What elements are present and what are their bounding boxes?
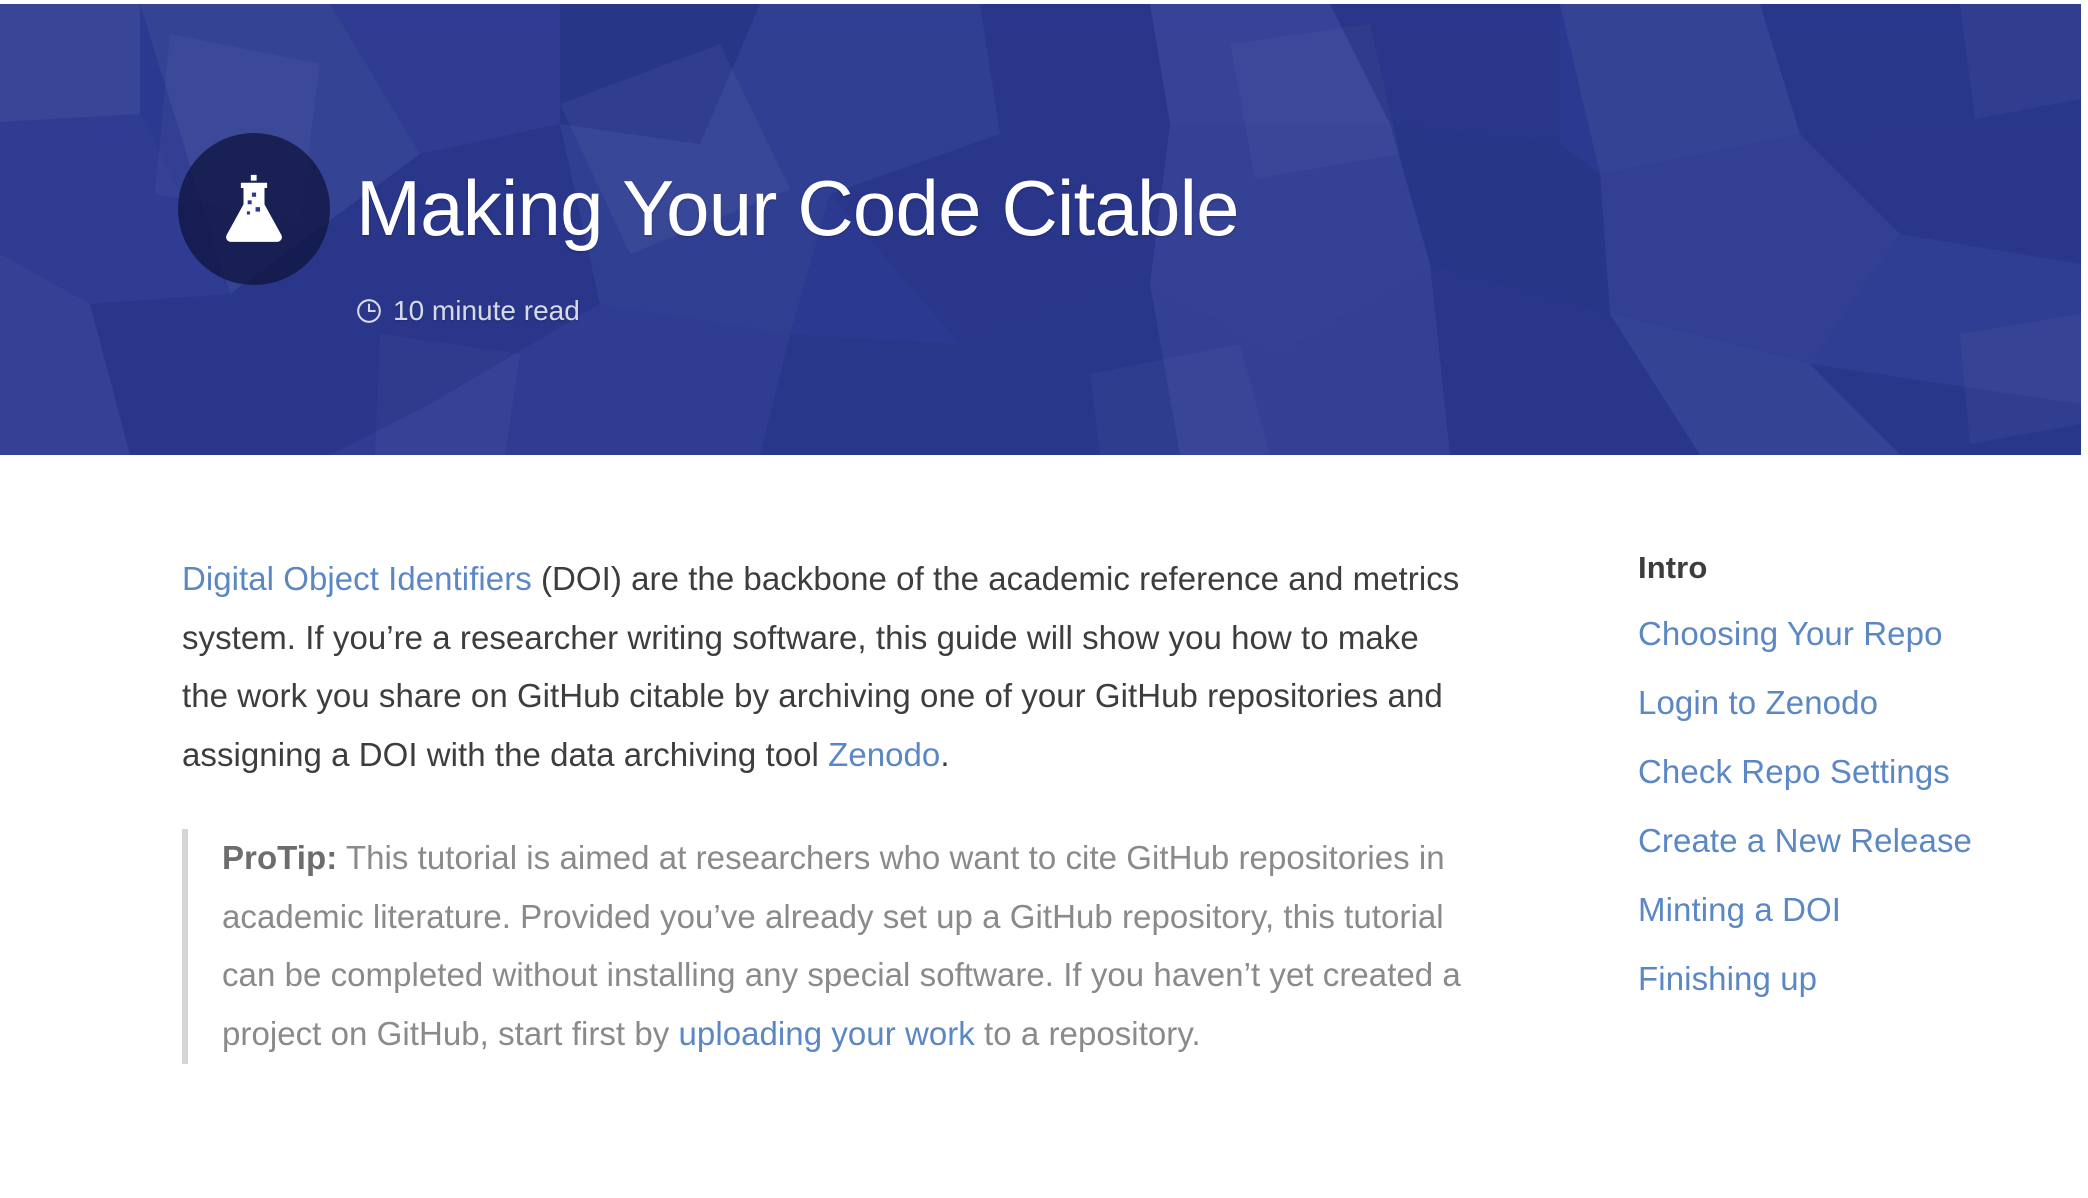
toc-item-login-to-zenodo[interactable]: Login to Zenodo: [1638, 684, 1878, 721]
read-time-label: 10 minute read: [393, 295, 580, 327]
title-row: Making Your Code Citable: [178, 133, 1239, 285]
uploading-your-work-link[interactable]: uploading your work: [679, 1015, 975, 1052]
doi-link[interactable]: Digital Object Identifiers: [182, 560, 532, 597]
avatar: [178, 133, 330, 285]
masthead-content: Making Your Code Citable 10 minute read: [178, 4, 1239, 455]
toc-item-finishing-up[interactable]: Finishing up: [1638, 960, 1817, 997]
protip-text: ProTip: This tutorial is aimed at resear…: [222, 829, 1472, 1064]
list-item: Finishing up: [1638, 962, 2038, 995]
list-item: Create a New Release: [1638, 824, 2038, 857]
table-of-contents: Intro Choosing Your Repo Login to Zenodo…: [1638, 550, 2038, 995]
read-time-meta: 10 minute read: [356, 295, 1239, 327]
protip-blockquote: ProTip: This tutorial is aimed at resear…: [182, 829, 1472, 1064]
list-item: Check Repo Settings: [1638, 755, 2038, 788]
intro-text-part2: .: [940, 736, 949, 773]
flask-icon: [212, 167, 296, 251]
toc-item-minting-a-doi[interactable]: Minting a DOI: [1638, 891, 1841, 928]
article-body: Digital Object Identifiers (DOI) are the…: [182, 550, 1472, 1064]
list-item: Choosing Your Repo: [1638, 617, 2038, 650]
page-masthead: Making Your Code Citable 10 minute read: [0, 4, 2081, 455]
page-root: Making Your Code Citable 10 minute read …: [0, 0, 2088, 1198]
clock-icon: [356, 298, 382, 324]
zenodo-link[interactable]: Zenodo: [828, 736, 940, 773]
toc-item-check-repo-settings[interactable]: Check Repo Settings: [1638, 753, 1950, 790]
protip-text-part2: to a repository.: [975, 1015, 1201, 1052]
content-area: Digital Object Identifiers (DOI) are the…: [0, 455, 2088, 1198]
protip-label: ProTip:: [222, 839, 337, 876]
list-item: Login to Zenodo: [1638, 686, 2038, 719]
toc-title: Intro: [1638, 550, 2038, 586]
list-item: Minting a DOI: [1638, 893, 2038, 926]
page-title: Making Your Code Citable: [356, 167, 1239, 250]
toc-item-choosing-your-repo[interactable]: Choosing Your Repo: [1638, 615, 1943, 652]
intro-paragraph: Digital Object Identifiers (DOI) are the…: [182, 550, 1472, 785]
toc-item-create-a-new-release[interactable]: Create a New Release: [1638, 822, 1972, 859]
toc-list: Choosing Your Repo Login to Zenodo Check…: [1638, 617, 2038, 995]
